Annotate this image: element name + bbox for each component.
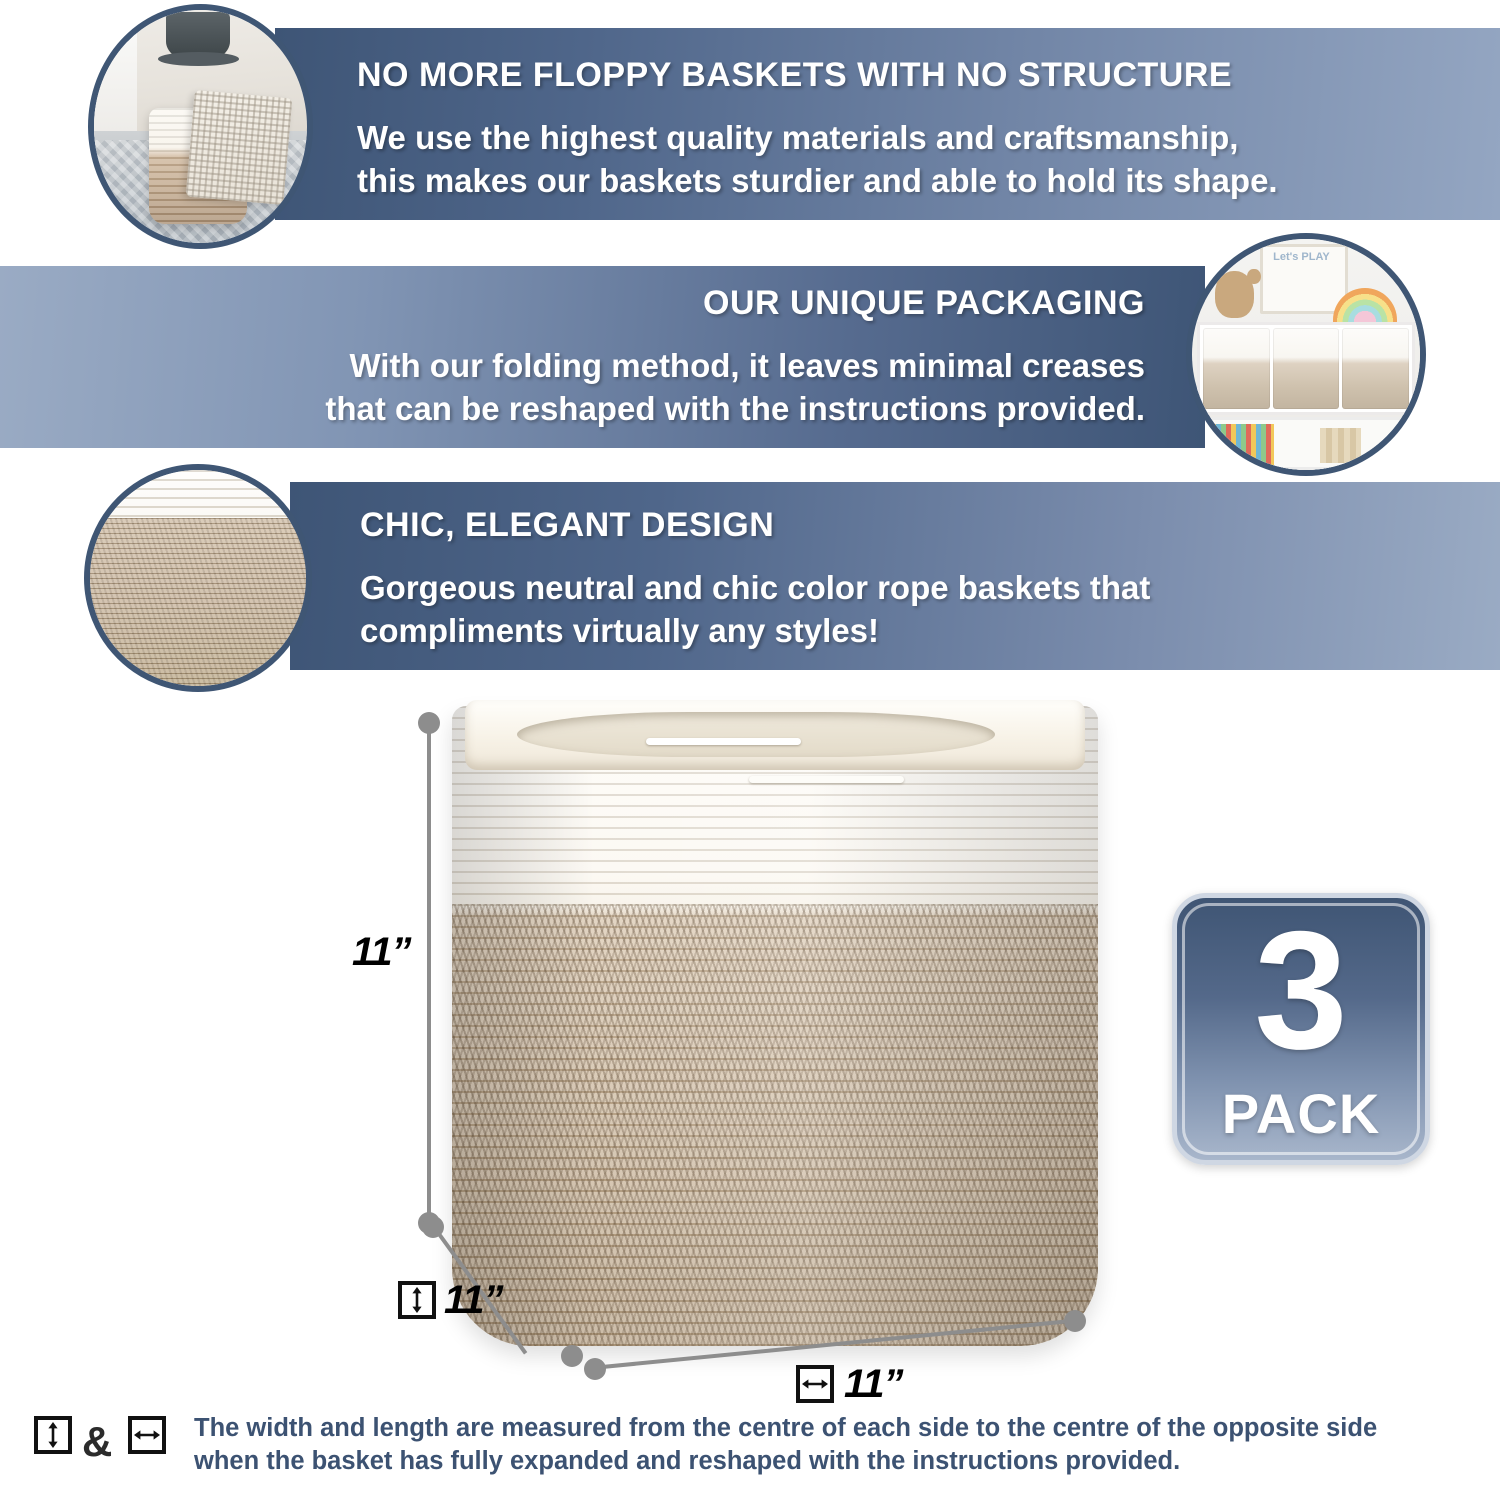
banner-body-line2: this makes our baskets sturdier and able… bbox=[357, 159, 1278, 202]
basket-cube bbox=[1273, 328, 1340, 408]
cream-rope-coils bbox=[90, 470, 306, 522]
cube-shelf-top-row bbox=[1197, 322, 1416, 414]
photo-content: Let's PLAY bbox=[1192, 239, 1420, 470]
feature-banner-chic-design: CHIC, ELEGANT DESIGN Gorgeous neutral an… bbox=[290, 482, 1500, 670]
rope-texture-closeup-photo bbox=[84, 464, 312, 692]
measurement-disclaimer: & The width and length are measured from… bbox=[26, 1404, 1476, 1482]
banner-body: We use the highest quality materials and… bbox=[357, 116, 1278, 202]
vertical-double-arrow-icon bbox=[409, 1287, 425, 1313]
width-dim-dot-right bbox=[1064, 1310, 1086, 1332]
banner-title: CHIC, ELEGANT DESIGN bbox=[360, 506, 774, 544]
wall-corner bbox=[94, 10, 137, 150]
basket-with-blanket-photo bbox=[88, 4, 313, 249]
depth-dim-dot-top bbox=[422, 1216, 444, 1238]
height-arrow-box-icon bbox=[398, 1281, 436, 1319]
width-dim-dot-left bbox=[584, 1358, 606, 1380]
vertical-double-arrow-icon bbox=[45, 1422, 61, 1448]
depth-dimension-label: 11” bbox=[444, 1278, 503, 1323]
height-dimension-line bbox=[427, 722, 431, 1222]
banner-body: With our folding method, it leaves minim… bbox=[325, 344, 1145, 430]
banner-body-line2: that can be reshaped with the instructio… bbox=[325, 387, 1145, 430]
ampersand: & bbox=[82, 1418, 112, 1466]
banner-body-line1: With our folding method, it leaves minim… bbox=[325, 344, 1145, 387]
basket-body bbox=[452, 706, 1098, 1346]
banner-body-line1: Gorgeous neutral and chic color rope bas… bbox=[360, 566, 1150, 609]
hero-basket-photo bbox=[452, 706, 1098, 1346]
height-dim-dot-top bbox=[418, 712, 440, 734]
banner-body: Gorgeous neutral and chic color rope bas… bbox=[360, 566, 1150, 652]
width-arrow-box-icon bbox=[796, 1365, 834, 1403]
books bbox=[1206, 424, 1274, 466]
width-arrow-box-icon bbox=[128, 1416, 166, 1454]
three-pack-badge: 3 PACK bbox=[1172, 893, 1430, 1165]
photo-content bbox=[94, 10, 307, 243]
basket-interior bbox=[517, 712, 995, 757]
disclaimer-line1: The width and length are measured from t… bbox=[194, 1412, 1474, 1445]
waffle-blanket bbox=[185, 90, 292, 205]
wall-art-text: Let's PLAY bbox=[1265, 251, 1338, 297]
basket-shading bbox=[452, 706, 1098, 1346]
height-arrow-box-icon bbox=[34, 1416, 72, 1454]
feature-banner-no-structure: NO MORE FLOPPY BASKETS WITH NO STRUCTURE… bbox=[275, 28, 1500, 220]
horizontal-double-arrow-icon bbox=[802, 1376, 828, 1392]
depth-dim-dot-bottom bbox=[561, 1345, 583, 1367]
feature-banner-unique-packaging: OUR UNIQUE PACKAGING With our folding me… bbox=[0, 266, 1205, 448]
wooden-blocks bbox=[1320, 428, 1361, 463]
height-dimension-label: 11” bbox=[352, 930, 411, 975]
banner-body-line2: compliments virtually any styles! bbox=[360, 609, 1150, 652]
basket-cube bbox=[1203, 328, 1270, 408]
photo-content bbox=[90, 470, 306, 686]
stool-base bbox=[158, 52, 239, 66]
banner-body-line1: We use the highest quality materials and… bbox=[357, 116, 1278, 159]
badge-label: PACK bbox=[1177, 1081, 1425, 1146]
disclaimer-text: The width and length are measured from t… bbox=[194, 1412, 1474, 1478]
playroom-shelf-photo: Let's PLAY bbox=[1186, 233, 1426, 476]
horizontal-double-arrow-icon bbox=[134, 1427, 160, 1443]
basket-handle-right bbox=[749, 776, 904, 783]
teddy-bear bbox=[1215, 271, 1254, 317]
basket-handle-left bbox=[646, 738, 801, 745]
infographic-canvas: NO MORE FLOPPY BASKETS WITH NO STRUCTURE… bbox=[0, 0, 1500, 1486]
tan-rope-weave bbox=[90, 518, 306, 686]
disclaimer-line2: when the basket has fully expanded and r… bbox=[194, 1445, 1474, 1478]
basket-cube bbox=[1342, 328, 1409, 408]
width-dimension-label: 11” bbox=[844, 1362, 903, 1407]
banner-title: NO MORE FLOPPY BASKETS WITH NO STRUCTURE bbox=[357, 56, 1232, 94]
badge-count: 3 bbox=[1177, 906, 1425, 1074]
banner-title: OUR UNIQUE PACKAGING bbox=[703, 284, 1145, 322]
